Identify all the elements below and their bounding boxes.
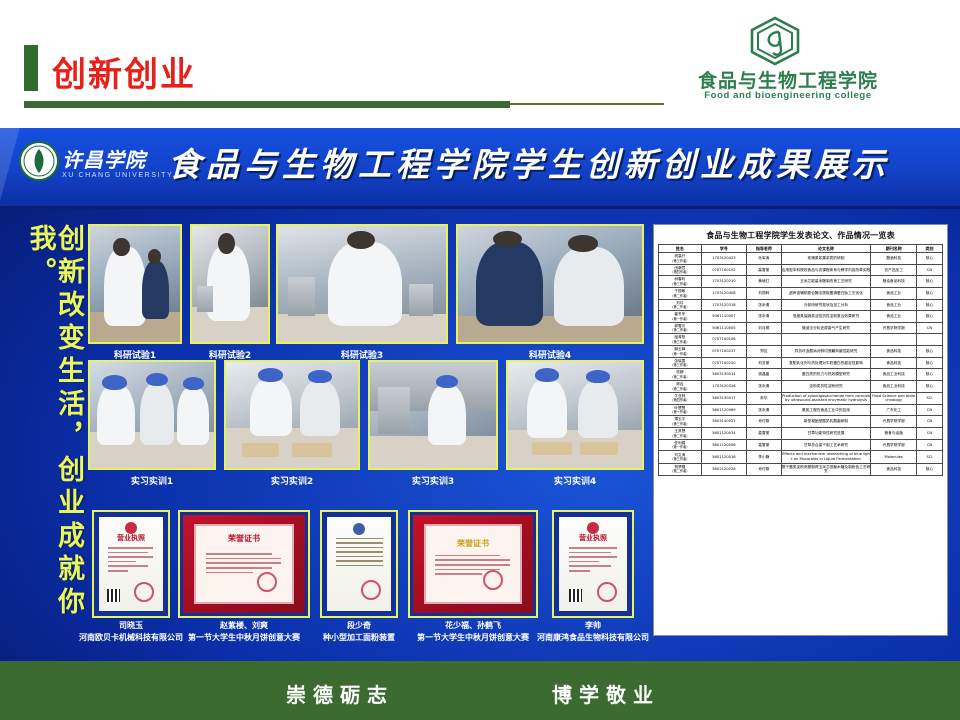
certificate-3: 段少奇 种小型加工面粉装置 (320, 510, 398, 618)
col-advisor: 指导老师 (747, 245, 781, 253)
cell-student-id: 5601120016 (701, 451, 746, 463)
cell-student-id: 0707100106 (701, 334, 746, 346)
cell-paper: 新型凝固型酸奶乳酸菌研制 (781, 416, 871, 428)
cell-paper: 超声波辅助复合酶法提取蛋清蛋白肽工艺优化 (781, 287, 871, 299)
cell-category: CN (916, 264, 942, 276)
cell-category: 核心 (916, 299, 942, 311)
training-photo-3: 实习实训3 (368, 360, 498, 470)
cell-advisor: 肖付刚 (747, 463, 781, 475)
cell-journal: Molecules (871, 451, 916, 463)
cell-category: 核心 (916, 369, 942, 381)
cell-advisor: 张永清 (747, 380, 781, 392)
cell-name: 刘玲（第二作者） (659, 299, 702, 311)
cell-journal: 食品工业科技 (871, 380, 916, 392)
cell-journal: 许昌学院学报 (871, 322, 916, 334)
cell-name: 田藜萱（第四作者） (659, 264, 702, 276)
research-photo-1: 科研试验1 (88, 224, 182, 344)
table-row: 王其慧（第二作者）5601120034高雪丽甘草功能特性研究进展粮食与油脂CN (659, 428, 943, 440)
publications-table-panel: 食品与生物工程学院学生发表论文、作品情况一览表 姓名 学号 指导老师 论文名称 … (653, 224, 948, 636)
header-rule-thick (24, 101, 510, 108)
table-row: 田藜萱（第四作者）0707100102高雪丽应用型本科院校食品与农课程体系与教学… (659, 264, 943, 276)
training-photo-2: 实习实训2 (224, 360, 360, 470)
cell-journal: 酿酒科技 (871, 253, 916, 265)
photo-caption: 实习实训2 (224, 474, 360, 487)
cell-journal: 许昌学院学报 (871, 416, 916, 428)
author-order: （第一作者） (659, 352, 701, 356)
cell-name: 任利娟（第一作者） (659, 439, 702, 451)
table-row: 张晓霞（第三作者）0707100220刘亚丽复配乳化剂与热处理对牛奶蛋白热稳定性… (659, 357, 943, 369)
cell-advisor: 高雪丽 (747, 439, 781, 451)
cell-name: 刘文涛（第三作者） (659, 451, 702, 463)
cell-name: 树春利（第三作者） (659, 276, 702, 288)
table-row: 张娜（第二作者）5603130014桃晶晶蛋白质的热力与热效模型研究食品工业科技… (659, 369, 943, 381)
cell-paper: 基于蛋类淀粉壳基制得玉米芯低聚木糖及制粉色工艺研究 (781, 463, 871, 475)
cell-advisor: 刘丽莉 (747, 287, 781, 299)
table-row: 任利娟（第一作者）5601120006高雪丽甘草总合量干制工艺术研究许昌学院学报… (659, 439, 943, 451)
cell-journal: 食品工业科技 (871, 369, 916, 381)
publications-table: 姓名 学号 指导老师 论文名称 期刊名称 类别 祝高升（第三作者）1703120… (658, 244, 943, 476)
cell-name: 崔冬冬（第一作者） (659, 311, 702, 323)
cell-category: CN (916, 428, 942, 440)
cell-paper: 甘草总合量干制工艺术研究 (781, 439, 871, 451)
cell-journal: 食品科技 (871, 463, 916, 475)
cell-journal: 食品科技 (871, 357, 916, 369)
research-photo-3: 科研试验3 (276, 224, 448, 344)
photo-caption: 实习实训3 (368, 474, 498, 487)
author-order: （第三作者） (659, 363, 701, 367)
table-row: 贺梦蝶（第二作者）5602120028肖付刚基于蛋类淀粉壳基制得玉米芯低聚木糖及… (659, 463, 943, 475)
certificate-doc-title: 营业执照 (99, 533, 163, 543)
cell-paper: 蛋白质的热力与热效模型研究 (781, 369, 871, 381)
author-order: （第三作者） (659, 457, 701, 461)
photo-caption: 实习实训4 (506, 474, 644, 487)
cell-name: 屈育阳（第三作者） (659, 334, 702, 346)
cell-advisor: 张永清 (747, 299, 781, 311)
table-row: 刘文涛（第三作者）5601120016李小静Effects and mechan… (659, 451, 943, 463)
research-photo-2: 科研试验2 (190, 224, 270, 344)
table-row: 薄玉平（第三作者）5603140021肖付刚新型凝固型酸奶乳酸菌研制许昌学院学报… (659, 416, 943, 428)
university-name-en: XU CHANG UNIVERSITY (62, 172, 173, 179)
logo-text-en: Food and bioengineering college (668, 90, 908, 101)
cell-paper: 低度蒸馏酒类活性抗性淀粉复合效果研究 (781, 311, 871, 323)
table-row: 树春利（第三作者）1703120210黄继红玉米芯能量米酿制改良工艺研究粮油食品… (659, 276, 943, 288)
col-paper: 论文名称 (781, 245, 871, 253)
cell-paper: 氨氮工程在食品工业中的应用 (781, 404, 871, 416)
cell-category: 核心 (916, 276, 942, 288)
author-order: （第四作者） (659, 270, 701, 274)
certificate-person: 司晓玉 (119, 621, 143, 630)
poster-title: 食品与生物工程学院学生创新创业成果展示 (168, 138, 890, 186)
cell-name: 牛亚林（第四作者） (659, 392, 702, 404)
cell-paper: Production of xylooligosaccharide from c… (781, 392, 871, 404)
footer-motto-right: 博学敬业 (552, 679, 660, 708)
author-order: （第二作者） (659, 375, 701, 379)
col-journal: 期刊名称 (871, 245, 916, 253)
presentation-slide: 创新创业 食品与生物工程学院 Food and bioengineering c… (0, 0, 960, 720)
cell-advisor: 刘月桐 (747, 322, 781, 334)
cell-advisor: 刘亚丽 (747, 357, 781, 369)
cell-paper (781, 334, 871, 346)
cell-name: 薛玉婵（第一作者） (659, 346, 702, 358)
cell-category (916, 334, 942, 346)
cell-advisor: 肖付刚 (747, 416, 781, 428)
footer-motto-left: 崇德砺志 (286, 679, 394, 708)
cell-advisor (747, 334, 781, 346)
author-order: （第三作者） (659, 422, 701, 426)
cell-advisor: 张永清 (747, 311, 781, 323)
certificate-org: 种小型加工面粉装置 (323, 633, 395, 642)
author-order: （第二作者） (659, 328, 701, 332)
col-name: 姓名 (659, 245, 702, 253)
cell-journal (871, 334, 916, 346)
author-order: （第一作者） (659, 317, 701, 321)
certificate-2: 荣誉证书 赵紫楼、刘爽 第一节大学生中秋月饼创意大赛 (178, 510, 310, 618)
author-order: （第二作者） (659, 434, 701, 438)
table-row: 毋垚（第二作者）1703120326张永清淀粉类抗性淀粉研究食品工业科技核心 (659, 380, 943, 392)
certificate-4: 荣誉证书 花少福、孙鹤飞 第一节大学生中秋月饼创意大赛 (408, 510, 538, 618)
cell-category: 核心 (916, 253, 942, 265)
cell-name: 于振敏（第二作者） (659, 287, 702, 299)
cell-name: 薄玉平（第三作者） (659, 416, 702, 428)
certificate-1: 营业执照 司晓玉 河南欧贝卡机械科技有限公司 (92, 510, 170, 618)
slide-header: 创新创业 食品与生物工程学院 Food and bioengineering c… (0, 0, 960, 128)
poster-image: 许昌学院 XU CHANG UNIVERSITY 食品与生物工程学院学生创新创业… (0, 128, 960, 661)
cell-name: 贺梦蝶（第二作者） (659, 463, 702, 475)
cell-journal: 食品工业 (871, 287, 916, 299)
author-order: （第四作者） (659, 398, 701, 402)
certificate-doc-title: 营业执照 (559, 533, 627, 543)
cell-category: CN (916, 416, 942, 428)
title-accent-bar (24, 45, 38, 91)
author-order: （第二作者） (659, 469, 701, 473)
cell-student-id: 5061110005 (701, 322, 746, 334)
certificate-person: 段少奇 (347, 621, 371, 630)
cell-advisor: 郑应 (747, 346, 781, 358)
table-row: 郭雪贝（第二作者）5061110005刘月桐微波法分析还原香气产生研究许昌学院学… (659, 322, 943, 334)
cell-paper: 甘草功能特性研究进展 (781, 428, 871, 440)
cell-student-id: 0707100102 (701, 264, 746, 276)
cell-student-id: 1703120210 (701, 276, 746, 288)
cell-journal: 粮油食品科技 (871, 276, 916, 288)
cell-category: SCI (916, 392, 942, 404)
cell-advisor: 桃晶晶 (747, 369, 781, 381)
training-photo-4: 实习实训4 (506, 360, 644, 470)
cell-advisor: 朱华 (747, 392, 781, 404)
cell-paper: 冷却肉研究现状及加工分析 (781, 299, 871, 311)
cell-advisor: 孙军涛 (747, 253, 781, 265)
table-row: 薛玉婵（第一作者）0707100217郑应异抗坏血酸钠对鲜切莲藕抑菌性能研究食品… (659, 346, 943, 358)
certificate-org: 第一节大学生中秋月饼创意大赛 (417, 633, 529, 642)
poster-slogan: 创新改变生活，创业成就你我。 (26, 224, 82, 644)
cell-advisor: 张永清 (747, 404, 781, 416)
cell-journal: 粮食与油脂 (871, 428, 916, 440)
certificate-person: 花少福、孙鹤飞 (445, 621, 501, 630)
cell-advisor: 高雪丽 (747, 428, 781, 440)
training-photo-1: 实习实训1 (88, 360, 216, 470)
cell-name: 叶慧慧（第一作者） (659, 404, 702, 416)
certificate-person: 赵紫楼、刘爽 (220, 621, 268, 630)
author-order: （第二作者） (659, 294, 701, 298)
certificate-doc-title: 荣誉证书 (426, 538, 520, 549)
cell-student-id: 5601120069 (701, 404, 746, 416)
table-row: 牛亚林（第四作者）5603130017朱华Production of xyloo… (659, 392, 943, 404)
header-rule-thin (510, 103, 664, 105)
cell-journal: 许昌学院学报 (871, 439, 916, 451)
cell-student-id: 5061110007 (701, 311, 746, 323)
cell-category: SCI (916, 451, 942, 463)
cell-paper: 异抗坏血酸钠对鲜切莲藕抑菌性能研究 (781, 346, 871, 358)
author-order: （第三作者） (659, 282, 701, 286)
cell-journal: 广东化工 (871, 404, 916, 416)
table-row: 屈育阳（第三作者）0707100106 (659, 334, 943, 346)
author-order: （第二作者） (659, 305, 701, 309)
author-order: （第三作者） (659, 259, 701, 263)
cell-name: 毋垚（第二作者） (659, 380, 702, 392)
certificate-doc-title: 荣誉证书 (196, 533, 292, 544)
cell-paper: 淀粉类抗性淀粉研究 (781, 380, 871, 392)
cell-name: 祝高升（第三作者） (659, 253, 702, 265)
photo-caption: 实习实训1 (88, 474, 216, 487)
author-order: （第一作者） (659, 410, 701, 414)
hexagon-leaf-mark-icon (746, 16, 804, 66)
cell-paper: 微波法分析还原香气产生研究 (781, 322, 871, 334)
cell-paper: 复配乳化剂与热处理对牛奶蛋白热稳定性影响 (781, 357, 871, 369)
table-row: 于振敏（第二作者）1703120408刘丽莉超声波辅助复合酶法提取蛋清蛋白肽工艺… (659, 287, 943, 299)
cell-category: CN (916, 404, 942, 416)
cell-journal: Food Science and biotechnology (871, 392, 916, 404)
author-order: （第一作者） (659, 445, 701, 449)
cell-category: 核心 (916, 346, 942, 358)
cell-advisor: 黄继红 (747, 276, 781, 288)
cell-name: 张娜（第二作者） (659, 369, 702, 381)
cell-advisor: 高雪丽 (747, 264, 781, 276)
table-body: 祝高升（第三作者）1703120423孙军涛玫瑰原浆果浆质的研制酿酒科技核心田藜… (659, 253, 943, 476)
cell-journal: 食品工业 (871, 299, 916, 311)
cell-journal: 食品科技 (871, 346, 916, 358)
cell-category: 核心 (916, 357, 942, 369)
university-seal-icon (18, 140, 60, 182)
cell-student-id: 1703120408 (701, 287, 746, 299)
cell-name: 张晓霞（第三作者） (659, 357, 702, 369)
table-header-row: 姓名 学号 指导老师 论文名称 期刊名称 类别 (659, 245, 943, 253)
cell-student-id: 5603130017 (701, 392, 746, 404)
cell-name: 郭雪贝（第二作者） (659, 322, 702, 334)
slide-footer: 崇德砺志 博学敬业 (0, 661, 960, 720)
cell-category: CN (916, 439, 942, 451)
cell-paper: 应用型本科院校食品与农课程体系与教学内容改革实践 (781, 264, 871, 276)
cell-name: 王其慧（第二作者） (659, 428, 702, 440)
cell-journal: 农产品加工 (871, 264, 916, 276)
cell-category: 核心 (916, 463, 942, 475)
logo-text-cn: 食品与生物工程学院 (668, 66, 908, 93)
certificate-5: 营业执照 李帅 河南康鸿食品生物科技有限公司 (552, 510, 634, 618)
cell-student-id: 5601120006 (701, 439, 746, 451)
cell-student-id: 5602120028 (701, 463, 746, 475)
research-photo-4: 科研试验4 (456, 224, 644, 344)
cell-category: CN (916, 322, 942, 334)
col-student-id: 学号 (701, 245, 746, 253)
table-row: 刘玲（第二作者）1703120318张永清冷却肉研究现状及加工分析食品工业核心 (659, 299, 943, 311)
table-row: 叶慧慧（第一作者）5601120069张永清氨氮工程在食品工业中的应用广东化工C… (659, 404, 943, 416)
cell-paper: 玉米芯能量米酿制改良工艺研究 (781, 276, 871, 288)
cell-student-id: 5603130014 (701, 369, 746, 381)
cell-category: 核心 (916, 311, 942, 323)
table-row: 崔冬冬（第一作者）5061110007张永清低度蒸馏酒类活性抗性淀粉复合效果研究… (659, 311, 943, 323)
cell-student-id: 5601120034 (701, 428, 746, 440)
cell-advisor: 李小静 (747, 451, 781, 463)
table-title: 食品与生物工程学院学生发表论文、作品情况一览表 (658, 228, 943, 244)
cell-journal: 食品工业 (871, 311, 916, 323)
certificate-person: 李帅 (585, 621, 601, 630)
author-order: （第三作者） (659, 340, 701, 344)
cell-student-id: 5603140021 (701, 416, 746, 428)
cell-student-id: 0707100220 (701, 357, 746, 369)
certificate-org: 河南康鸿食品生物科技有限公司 (537, 633, 649, 642)
cell-student-id: 0707100217 (701, 346, 746, 358)
cell-student-id: 1703120318 (701, 299, 746, 311)
cell-category: 核心 (916, 287, 942, 299)
cell-student-id: 1703120423 (701, 253, 746, 265)
col-category: 类别 (916, 245, 942, 253)
page-title: 创新创业 (52, 47, 196, 96)
college-logo: 食品与生物工程学院 Food and bioengineering colleg… (668, 16, 908, 104)
cell-paper: 玫瑰原浆果浆质的研制 (781, 253, 871, 265)
author-order: （第二作者） (659, 387, 701, 391)
university-name-cn: 许昌学院 (62, 144, 146, 173)
table-row: 祝高升（第三作者）1703120423孙军涛玫瑰原浆果浆质的研制酿酒科技核心 (659, 253, 943, 265)
cell-paper: Effects and mechanism researching of blu… (781, 451, 871, 463)
certificate-org: 第一节大学生中秋月饼创意大赛 (188, 633, 300, 642)
cell-student-id: 1703120326 (701, 380, 746, 392)
cell-category: 核心 (916, 380, 942, 392)
